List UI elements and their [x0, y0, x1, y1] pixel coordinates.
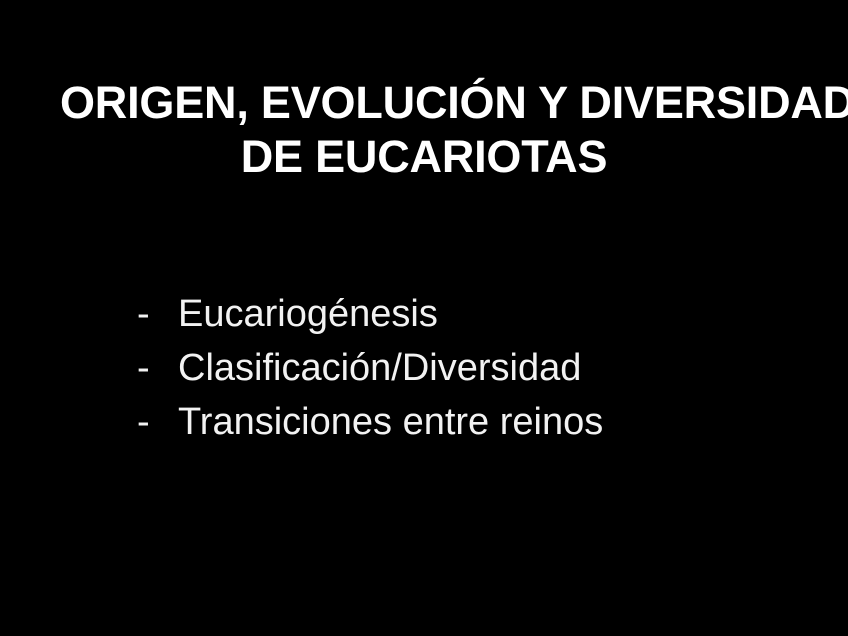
bullet-list: - Eucariogénesis - Clasificación/Diversi…	[137, 292, 757, 454]
slide-title-line-1: ORIGEN, EVOLUCIÓN Y DIVERSIDAD	[60, 76, 788, 130]
list-item-label: Transiciones entre reinos	[178, 400, 603, 444]
dash-bullet-icon: -	[137, 292, 178, 336]
list-item-label: Eucariogénesis	[178, 292, 438, 336]
slide-title: ORIGEN, EVOLUCIÓN Y DIVERSIDAD DE EUCARI…	[60, 76, 788, 184]
list-item: - Transiciones entre reinos	[137, 400, 757, 454]
slide-title-line-2: DE EUCARIOTAS	[60, 130, 788, 184]
list-item: - Clasificación/Diversidad	[137, 346, 757, 400]
dash-bullet-icon: -	[137, 346, 178, 390]
dash-bullet-icon: -	[137, 400, 178, 444]
list-item-label: Clasificación/Diversidad	[178, 346, 581, 390]
list-item: - Eucariogénesis	[137, 292, 757, 346]
presentation-slide: ORIGEN, EVOLUCIÓN Y DIVERSIDAD DE EUCARI…	[0, 0, 848, 636]
